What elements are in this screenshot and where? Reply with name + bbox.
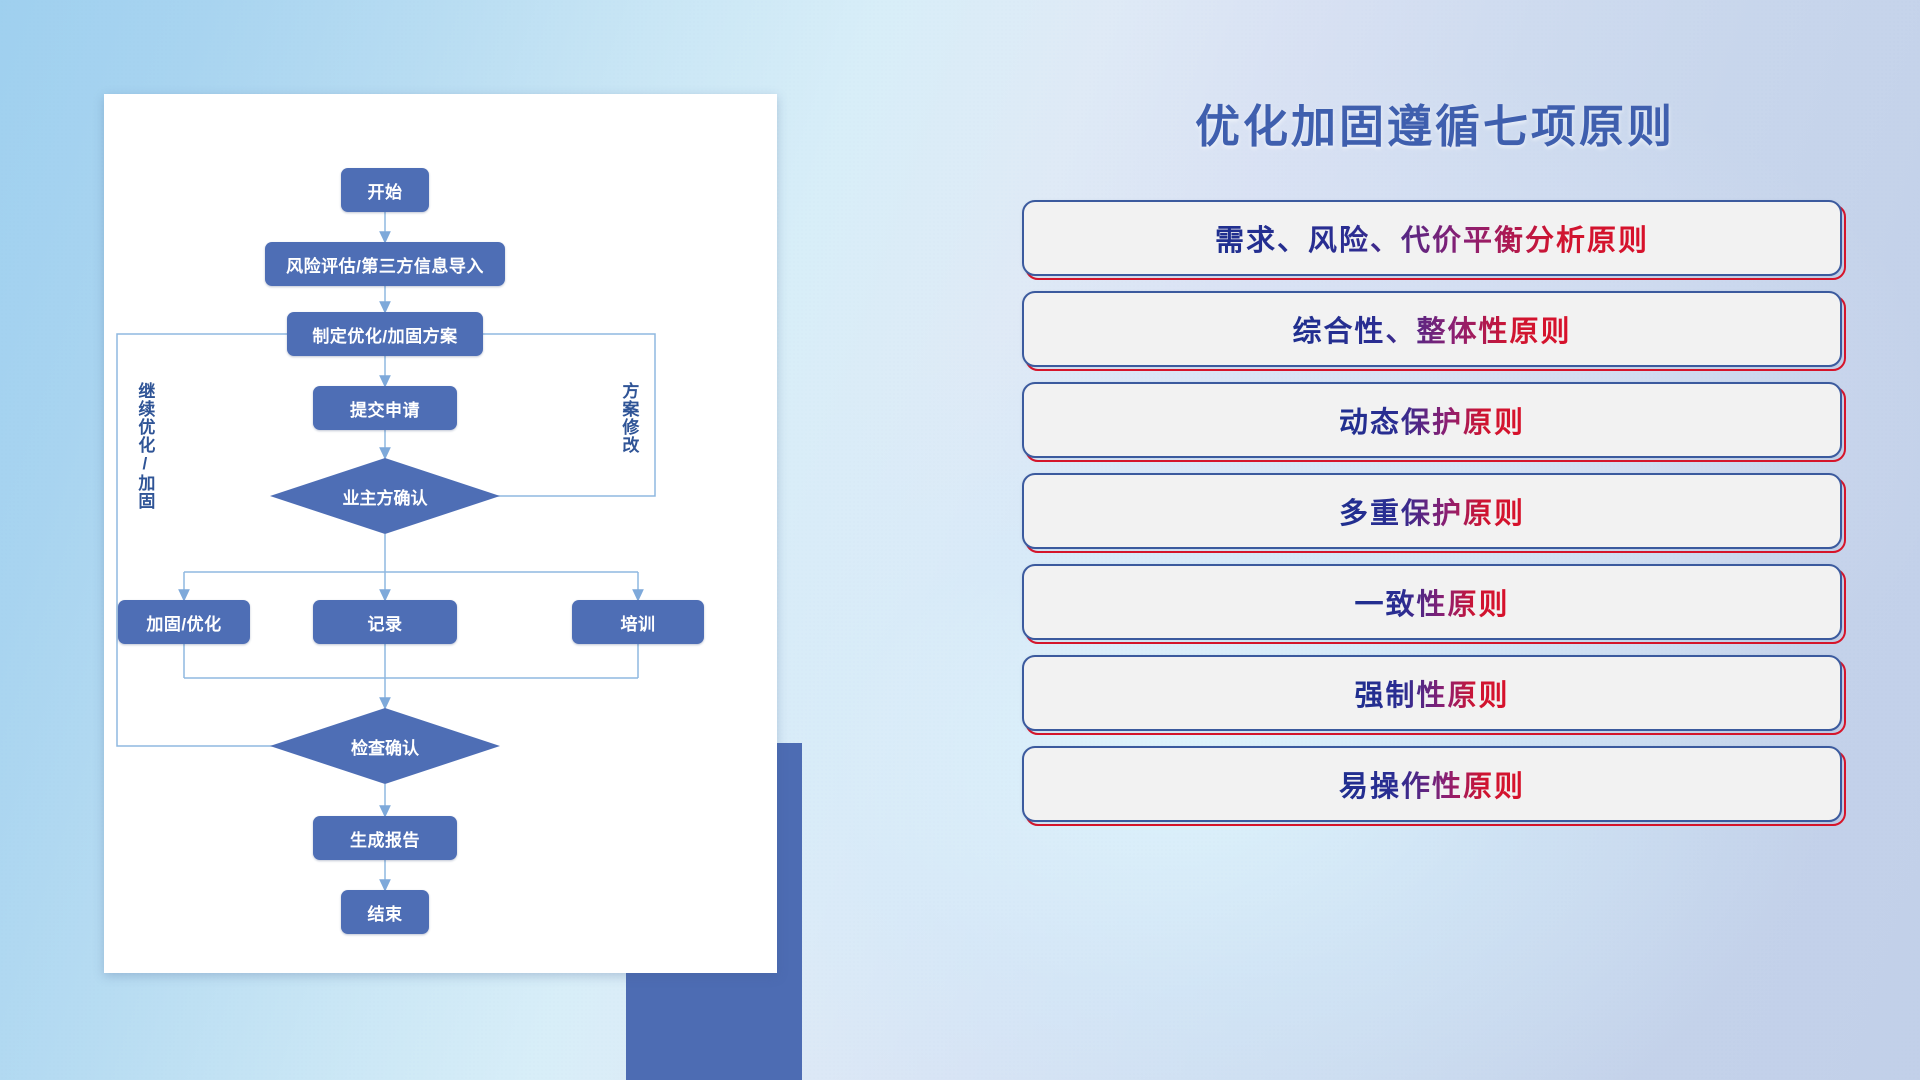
flow-node-training-label: 培训: [621, 610, 656, 635]
flow-node-record-label: 记录: [368, 610, 403, 635]
flow-node-reinforce[interactable]: 加固/优化: [118, 600, 250, 644]
flow-node-generate-report-label: 生成报告: [350, 826, 420, 851]
principle-item-1-label: 需求、风险、代价平衡分析原则: [1215, 217, 1649, 259]
principle-item-4-body: 多重保护原则: [1022, 473, 1842, 549]
flow-node-submit-application-label: 提交申请: [350, 396, 420, 421]
principle-item-3-label: 动态保护原则: [1339, 399, 1525, 441]
principle-item-3[interactable]: 动态保护原则: [1022, 382, 1842, 458]
principle-item-2-body: 综合性、整体性原则: [1022, 291, 1842, 367]
principle-item-5-body: 一致性原则: [1022, 564, 1842, 640]
flow-node-end-label: 结束: [368, 900, 403, 925]
flow-label-right-loop: 方案修改: [620, 382, 637, 502]
principle-item-4-label: 多重保护原则: [1339, 490, 1525, 532]
principles-list: 需求、风险、代价平衡分析原则 综合性、整体性原则 动态保护原则 多重保护原则: [1022, 200, 1842, 837]
flow-node-reinforce-label: 加固/优化: [146, 610, 221, 635]
flow-node-make-plan[interactable]: 制定优化/加固方案: [287, 312, 483, 356]
flow-node-owner-confirm-label: 业主方确认: [343, 484, 428, 509]
principle-item-6-body: 强制性原则: [1022, 655, 1842, 731]
principle-item-6-label: 强制性原则: [1354, 672, 1509, 714]
flow-node-check-confirm-label: 检查确认: [351, 734, 419, 759]
principle-item-5-label: 一致性原则: [1354, 581, 1509, 623]
flow-node-make-plan-label: 制定优化/加固方案: [312, 322, 457, 347]
flow-node-risk-assessment[interactable]: 风险评估/第三方信息导入: [265, 242, 505, 286]
flow-node-owner-confirm[interactable]: 业主方确认: [270, 458, 500, 534]
slide-root: 开始 风险评估/第三方信息导入 制定优化/加固方案 提交申请 业主方确认 加固/…: [0, 0, 1920, 1080]
principle-item-4[interactable]: 多重保护原则: [1022, 473, 1842, 549]
principles-panel: 优化加固遵循七项原则 需求、风险、代价平衡分析原则 综合性、整体性原则 动态保护…: [1010, 90, 1860, 1010]
flow-node-submit-application[interactable]: 提交申请: [313, 386, 457, 430]
principle-item-7-body: 易操作性原则: [1022, 746, 1842, 822]
principle-item-5[interactable]: 一致性原则: [1022, 564, 1842, 640]
flow-node-record[interactable]: 记录: [313, 600, 457, 644]
principle-item-7[interactable]: 易操作性原则: [1022, 746, 1842, 822]
principle-item-2-label: 综合性、整体性原则: [1292, 308, 1571, 350]
flow-node-check-confirm[interactable]: 检查确认: [270, 708, 500, 784]
flow-node-start[interactable]: 开始: [341, 168, 429, 212]
flow-node-training[interactable]: 培训: [572, 600, 704, 644]
principle-item-6[interactable]: 强制性原则: [1022, 655, 1842, 731]
principle-item-1[interactable]: 需求、风险、代价平衡分析原则: [1022, 200, 1842, 276]
principle-item-2[interactable]: 综合性、整体性原则: [1022, 291, 1842, 367]
page-title: 优化加固遵循七项原则: [1010, 90, 1860, 155]
flow-label-left-loop: 继续优化/加固: [136, 382, 153, 562]
flow-node-end[interactable]: 结束: [341, 890, 429, 934]
flowchart-panel: 开始 风险评估/第三方信息导入 制定优化/加固方案 提交申请 业主方确认 加固/…: [104, 94, 804, 984]
flow-node-risk-assessment-label: 风险评估/第三方信息导入: [286, 252, 484, 277]
flowchart-card: 开始 风险评估/第三方信息导入 制定优化/加固方案 提交申请 业主方确认 加固/…: [104, 94, 777, 973]
principle-item-3-body: 动态保护原则: [1022, 382, 1842, 458]
principle-item-1-body: 需求、风险、代价平衡分析原则: [1022, 200, 1842, 276]
flow-node-generate-report[interactable]: 生成报告: [313, 816, 457, 860]
flow-node-start-label: 开始: [368, 178, 403, 203]
principle-item-7-label: 易操作性原则: [1339, 763, 1525, 805]
